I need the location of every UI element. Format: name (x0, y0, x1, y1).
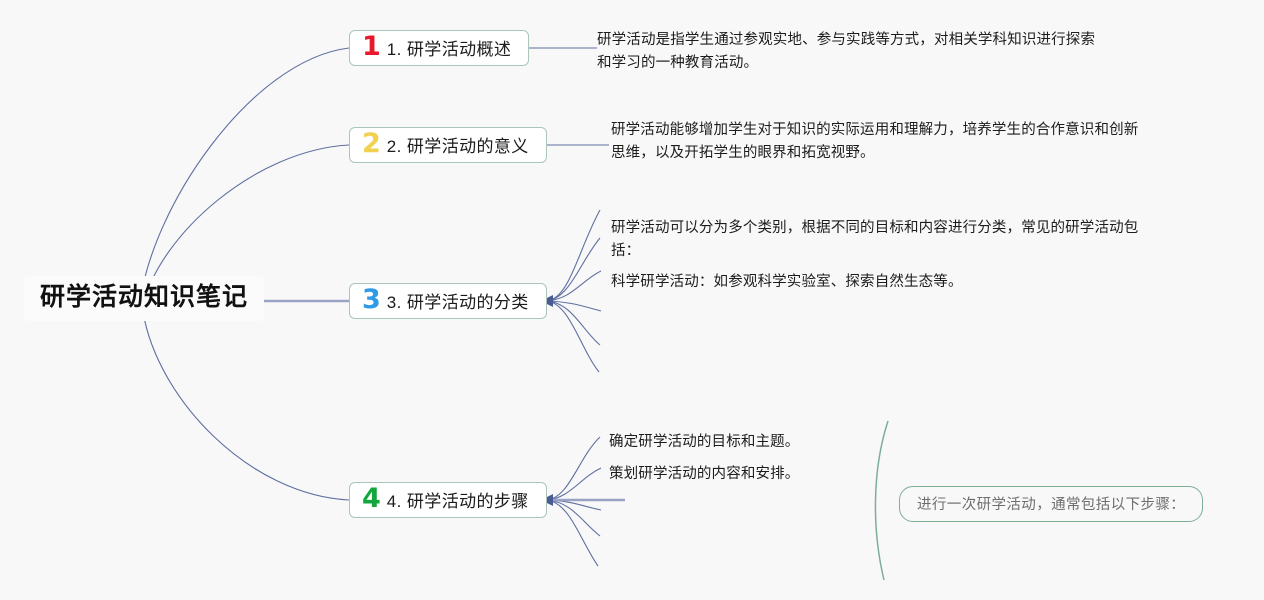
branch-number-1: 1 (362, 33, 381, 60)
branch-number-4: 4 (362, 485, 381, 512)
branch-label-1: 1. 研学活动概述 (387, 35, 512, 60)
branch-node-3[interactable]: 3 3. 研学活动的分类 (349, 283, 547, 319)
mindmap-canvas: 研学活动知识笔记 1 1. 研学活动概述 2 2. 研学活动的意义 3 3. 研… (0, 0, 1264, 600)
root-node[interactable]: 研学活动知识笔记 (24, 276, 264, 321)
branch-label-4: 4. 研学活动的步骤 (387, 487, 529, 512)
leaf-text-3-2: 科学研学活动：如参观科学实验室、探索自然生态等。 (611, 271, 1051, 294)
branch-label-3: 3. 研学活动的分类 (387, 288, 529, 313)
branch-node-2[interactable]: 2 2. 研学活动的意义 (349, 127, 547, 163)
leaf-text-4-2: 策划研学活动的内容和安排。 (609, 463, 969, 486)
leaf-text-1-1: 研学活动是指学生通过参观实地、参与实践等方式，对相关学科知识进行探索和学习的一种… (597, 29, 1097, 76)
branch-node-1[interactable]: 1 1. 研学活动概述 (349, 30, 529, 66)
branch-label-2: 2. 研学活动的意义 (387, 132, 529, 157)
leaf-text-4-1: 确定研学活动的目标和主题。 (609, 431, 969, 454)
callout-text: 进行一次研学活动，通常包括以下步骤： (917, 497, 1185, 513)
root-label: 研学活动知识笔记 (40, 283, 248, 311)
callout-box[interactable]: 进行一次研学活动，通常包括以下步骤： (899, 486, 1203, 522)
branch-number-2: 2 (362, 130, 381, 157)
branch-node-4[interactable]: 4 4. 研学活动的步骤 (349, 482, 547, 518)
leaf-text-3-1: 研学活动可以分为多个类别，根据不同的目标和内容进行分类，常见的研学活动包括： (611, 217, 1141, 264)
leaf-text-2-1: 研学活动能够增加学生对于知识的实际运用和理解力，培养学生的合作意识和创新思维，以… (611, 119, 1141, 166)
branch-number-3: 3 (362, 286, 381, 313)
